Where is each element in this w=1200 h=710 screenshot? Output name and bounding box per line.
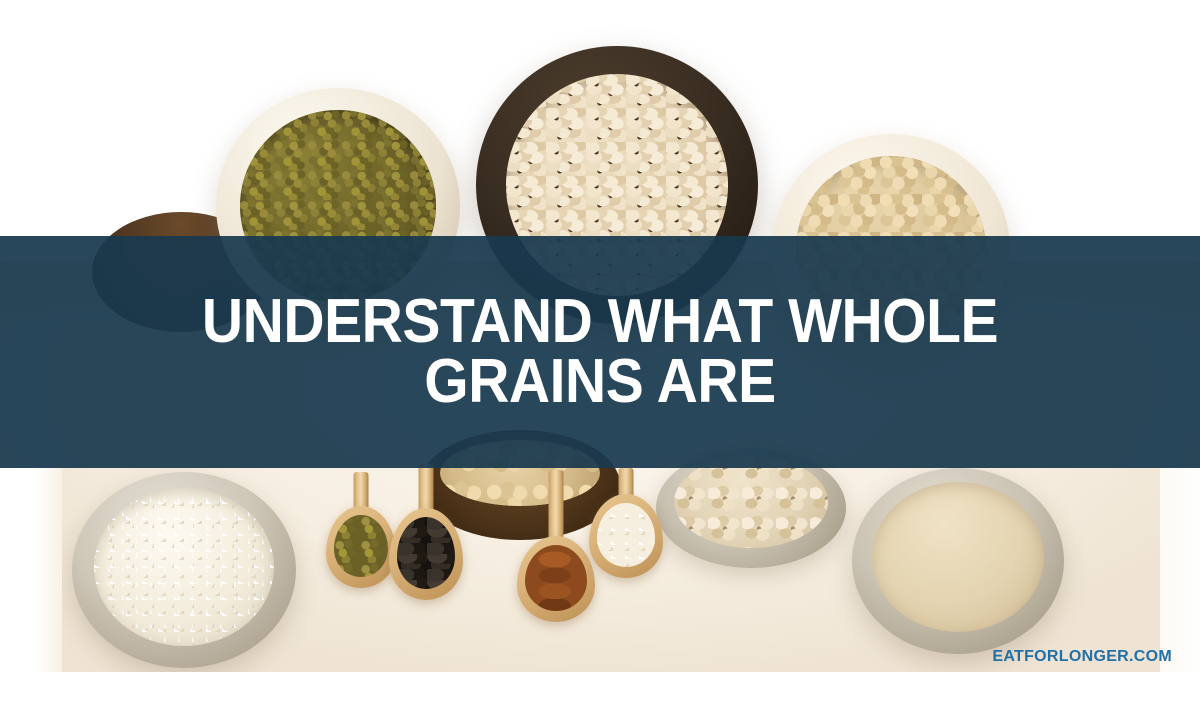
surface-edge-right: [1160, 468, 1200, 672]
page-title: UNDERSTAND WHAT WHOLE GRAINS ARE: [112, 292, 1087, 412]
spoon-head: [389, 508, 463, 600]
article-header-image: UNDERSTAND WHAT WHOLE GRAINS ARE EATFORL…: [0, 0, 1200, 710]
white-rice-texture: [94, 488, 274, 646]
site-watermark: EATFORLONGER.COM: [992, 648, 1172, 666]
brown-rice-texture: [872, 482, 1044, 632]
white-rice-fill: [94, 488, 274, 646]
barley-texture: [674, 456, 828, 548]
surface-edge-left: [0, 468, 62, 672]
spoon-head: [589, 494, 663, 578]
brown-rice-bowl: [852, 468, 1064, 654]
brown-rice-fill: [872, 482, 1044, 632]
spoon-white-rice: [578, 468, 674, 588]
spoon-contents-black-beans: [397, 517, 455, 589]
title-banner: UNDERSTAND WHAT WHOLE GRAINS ARE: [0, 236, 1200, 468]
white-rice-bowl: [72, 472, 296, 668]
spoon-contents-white-rice: [597, 503, 655, 567]
barley-fill: [674, 456, 828, 548]
spoon-black-beans: [378, 464, 474, 614]
footer-bar: EATFORLONGER.COM: [0, 672, 1200, 710]
